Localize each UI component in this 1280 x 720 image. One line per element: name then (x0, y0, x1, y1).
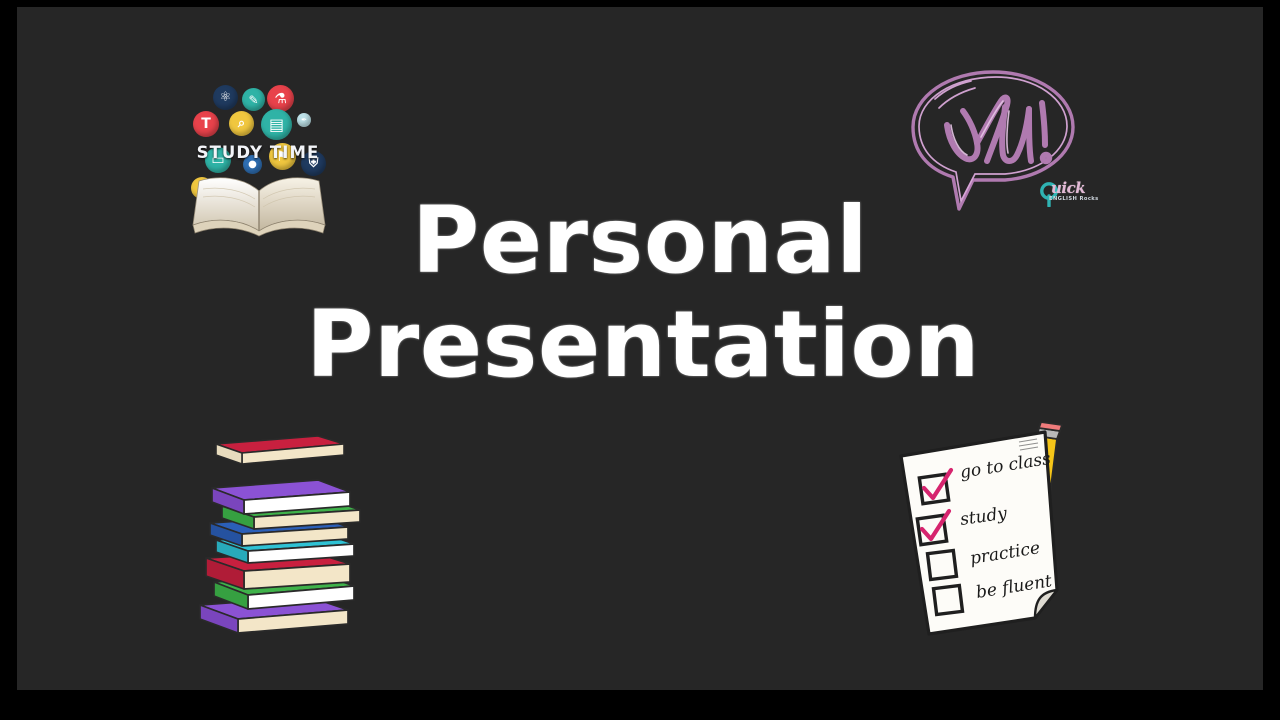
quick-logo: uick ENGLISH Rocks (1039, 179, 1111, 211)
pen-icon: ✎ (242, 88, 265, 111)
study-time-logo: ⚛✎⚗T⌕▤✒▭●⚑⛨◎ STUDY TIME (185, 85, 331, 221)
bulb-icon: ⌕ (229, 111, 254, 136)
book-stack (192, 422, 372, 647)
quick-tagline: ENGLISH Rocks (1049, 196, 1099, 202)
atom-icon: ⚛ (213, 85, 238, 110)
quick-brand-name: uick (1051, 179, 1085, 197)
presentation-slide: Personal Presentation ⚛✎⚗T⌕▤✒▭●⚑⛨◎ STUDY… (17, 7, 1263, 690)
title-line-2: Presentation (23, 293, 1263, 397)
open-book-icon (189, 171, 329, 237)
feather-icon: ✒ (297, 113, 311, 127)
floating-book (216, 436, 344, 464)
study-time-wordmark: STUDY TIME (185, 143, 331, 162)
flask-icon: ⚗ (267, 85, 294, 112)
letter-t-icon: T (193, 111, 219, 137)
slide-stage: Personal Presentation ⚛✎⚗T⌕▤✒▭●⚑⛨◎ STUDY… (0, 0, 1280, 720)
notebook-icon: ▤ (261, 109, 292, 140)
study-checklist: go to class study practice (885, 422, 1100, 647)
